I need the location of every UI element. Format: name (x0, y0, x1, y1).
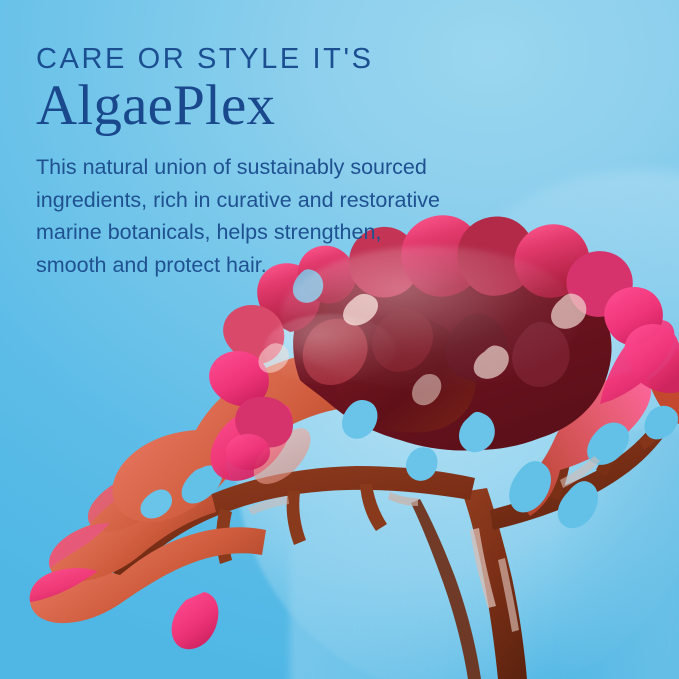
product-wordmark: AlgaePlex (36, 76, 516, 136)
description-line: marine botanicals, helps strengthen, (36, 216, 516, 249)
description-line: ingredients, rich in curative and restor… (36, 184, 516, 217)
description-line: This natural union of sustainably source… (36, 151, 516, 184)
hero-banner: CARE OR STYLE IT'S AlgaePlex This natura… (0, 0, 679, 679)
eyebrow-heading: CARE OR STYLE IT'S (36, 44, 516, 74)
hero-copy: CARE OR STYLE IT'S AlgaePlex This natura… (36, 44, 516, 282)
description-line: smooth and protect hair. (36, 249, 516, 282)
hero-description: This natural union of sustainably source… (36, 151, 516, 282)
